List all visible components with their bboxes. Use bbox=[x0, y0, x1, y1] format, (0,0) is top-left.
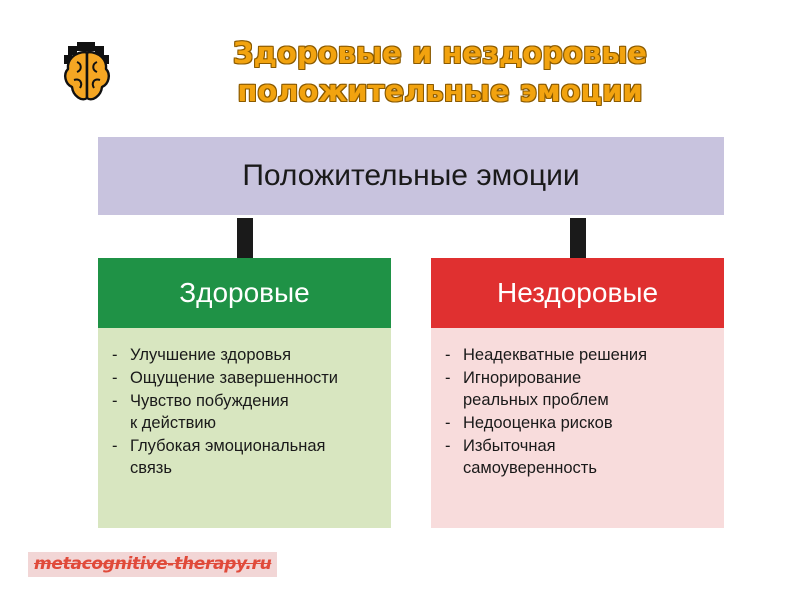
branch-unhealthy-list: - Неадекватные решения - Игнорирование р… bbox=[445, 344, 714, 479]
branch-healthy-title: Здоровые bbox=[179, 277, 310, 309]
bullet-dash: - bbox=[112, 390, 118, 412]
page-title-line-1: Здоровые и нездоровые bbox=[160, 34, 720, 72]
list-item: - Недооценка рисков bbox=[445, 412, 714, 434]
list-item: - Глубокая эмоциональная связь bbox=[112, 435, 381, 479]
branch-healthy-body: - Улучшение здоровья - Ощущение завершен… bbox=[98, 328, 391, 528]
list-item: - Улучшение здоровья bbox=[112, 344, 381, 366]
list-item-text: Недооценка рисков bbox=[463, 412, 714, 434]
list-item-text: Избыточная самоуверенность bbox=[463, 435, 714, 479]
bullet-dash: - bbox=[445, 367, 451, 389]
list-item-text: Глубокая эмоциональная связь bbox=[130, 435, 381, 479]
branch-unhealthy-title: Нездоровые bbox=[497, 277, 658, 309]
branch-healthy: Здоровые - Улучшение здоровья - Ощущение… bbox=[98, 258, 391, 528]
list-item: - Ощущение завершенности bbox=[112, 367, 381, 389]
list-item-text: Игнорирование реальных проблем bbox=[463, 367, 714, 411]
branch-healthy-header: Здоровые bbox=[98, 258, 391, 328]
bullet-dash: - bbox=[445, 344, 451, 366]
page-title-line-2: положительные эмоции bbox=[160, 72, 720, 110]
branch-unhealthy-header: Нездоровые bbox=[431, 258, 724, 328]
list-item-text: Неадекватные решения bbox=[463, 344, 714, 366]
connector-right bbox=[570, 218, 586, 258]
bullet-dash: - bbox=[445, 435, 451, 457]
branch-unhealthy: Нездоровые - Неадекватные решения - Игно… bbox=[431, 258, 724, 528]
bullet-dash: - bbox=[445, 412, 451, 434]
brain-icon bbox=[60, 40, 132, 112]
page-title: Здоровые и нездоровые положительные эмоц… bbox=[160, 34, 720, 110]
list-item: - Избыточная самоуверенность bbox=[445, 435, 714, 479]
branch-healthy-list: - Улучшение здоровья - Ощущение завершен… bbox=[112, 344, 381, 479]
bullet-dash: - bbox=[112, 367, 118, 389]
list-item: - Неадекватные решения bbox=[445, 344, 714, 366]
root-node-label: Положительные эмоции bbox=[242, 159, 579, 193]
root-node-positive-emotions: Положительные эмоции bbox=[98, 137, 724, 215]
list-item-text: Чувство побуждения к действию bbox=[130, 390, 381, 434]
list-item: - Чувство побуждения к действию bbox=[112, 390, 381, 434]
list-item-text: Ощущение завершенности bbox=[130, 367, 381, 389]
bullet-dash: - bbox=[112, 435, 118, 457]
list-item-text: Улучшение здоровья bbox=[130, 344, 381, 366]
watermark: metacognitive-therapy.ru bbox=[28, 552, 277, 577]
list-item: - Игнорирование реальных проблем bbox=[445, 367, 714, 411]
bullet-dash: - bbox=[112, 344, 118, 366]
connector-left bbox=[237, 218, 253, 258]
branch-unhealthy-body: - Неадекватные решения - Игнорирование р… bbox=[431, 328, 724, 528]
